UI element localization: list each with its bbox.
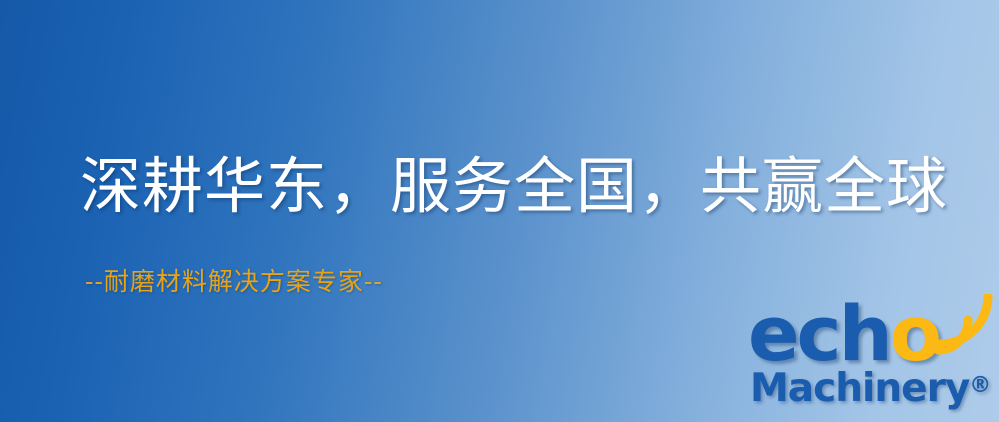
echo-wave-icon (930, 294, 996, 356)
logo-wordmark: echo (748, 296, 939, 372)
echo-machinery-logo[interactable]: echo Machinery® (748, 296, 996, 418)
banner-headline: 深耕华东，服务全国，共赢全球 (80, 150, 948, 224)
logo-text-ech: ech (748, 289, 890, 378)
logo-subtext: Machinery® (750, 366, 991, 409)
registered-trademark-icon: ® (969, 373, 991, 398)
banner-subtitle: --耐磨材料解决方案专家-- (85, 267, 383, 297)
promo-banner: 深耕华东，服务全国，共赢全球 --耐磨材料解决方案专家-- echo Machi… (0, 0, 999, 422)
logo-machinery-text: Machinery (750, 366, 969, 411)
